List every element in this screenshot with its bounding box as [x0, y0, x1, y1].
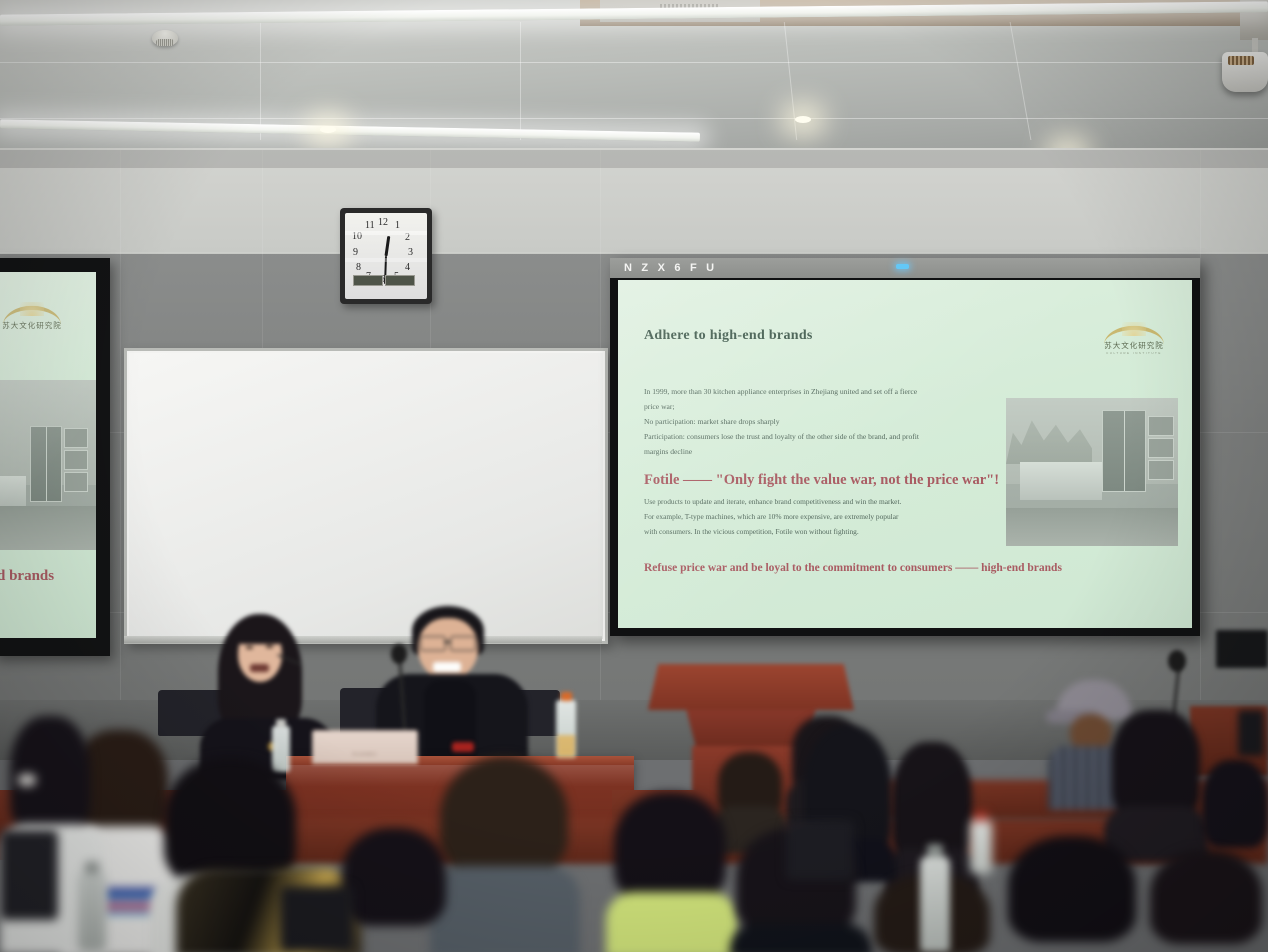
wall-seam [0, 252, 1268, 253]
hair [1202, 760, 1268, 848]
wall-seam [120, 150, 121, 710]
smartphone [1238, 710, 1264, 756]
wall-clock: 12 1 2 3 4 5 6 7 8 9 10 11 [340, 208, 432, 304]
clock-numeral: 3 [408, 247, 413, 258]
mouth [250, 664, 269, 672]
mouth [433, 662, 461, 672]
hair [614, 792, 726, 902]
bottle-liquid [557, 735, 575, 757]
hair-tie [18, 774, 36, 786]
hair-curly [440, 756, 568, 876]
bottle-cap [85, 862, 99, 873]
screen-glare [0, 272, 96, 638]
clock-numeral: 1 [395, 220, 400, 231]
bottle-cap [975, 812, 987, 821]
eye [266, 645, 273, 648]
red-marker [452, 742, 474, 752]
ceiling-seam [520, 22, 521, 140]
smoke-detector-icon [152, 30, 178, 46]
audience-member [606, 792, 738, 952]
hair-fringe [234, 622, 286, 644]
hair [1150, 850, 1262, 944]
screen-glare [618, 280, 1192, 628]
whiteboard-surface [129, 353, 603, 639]
clock-numeral: 9 [353, 247, 358, 258]
audience-member [1150, 850, 1268, 952]
gooseneck-microphone-head [1168, 650, 1186, 672]
downlight [320, 126, 336, 133]
ceiling-projector [1222, 52, 1268, 92]
laptop-lid [312, 730, 418, 764]
eye [246, 646, 253, 649]
side-monitor [1216, 630, 1268, 668]
clock-face: 12 1 2 3 4 5 6 7 8 9 10 11 [345, 213, 427, 299]
clock-glare [345, 231, 427, 235]
clock-glare [345, 258, 427, 262]
chair-back [0, 830, 58, 920]
audience-member [1000, 836, 1150, 952]
slide-surface: Adhere to high-end brands 苏大文化研究院 CULTUR… [618, 280, 1192, 628]
table-microphone-head [391, 644, 407, 664]
glasses-bridge [444, 641, 450, 643]
bottle-cap [276, 719, 286, 727]
water-bottle [970, 820, 992, 874]
ceiling-seam [0, 118, 1268, 119]
chair-back [280, 886, 354, 952]
glasses-icon [420, 636, 446, 651]
main-lcd-display: N Z X 6 F U Adhere to high-end brands 苏大… [610, 258, 1200, 636]
water-bottle [556, 700, 576, 758]
glasses-icon [450, 636, 476, 651]
podium-top [648, 664, 854, 710]
chair-back [786, 820, 854, 880]
bottle-cap [561, 692, 572, 701]
whiteboard [124, 348, 608, 644]
audience-member [336, 828, 456, 952]
hair [1112, 710, 1200, 820]
downlight [795, 116, 811, 123]
power-led-indicator [896, 264, 909, 269]
laptop-brand-label: HUAWEI [312, 752, 418, 758]
lecture-hall-photo: 12 1 2 3 4 5 6 7 8 9 10 11 苏大文化研究院 [0, 0, 1268, 952]
osd-label: N Z X 6 F U [610, 262, 717, 274]
water-bottle [920, 856, 950, 952]
left-slide-surface: 苏大文化研究院 end brands [0, 272, 96, 638]
clock-numeral: 11 [365, 220, 375, 231]
wall-shadow [0, 150, 1268, 168]
wall-seam [1200, 150, 1201, 710]
hair [164, 758, 296, 886]
clock-numeral: 8 [356, 262, 361, 273]
ceiling-seam [0, 62, 1268, 63]
ceiling-seam [260, 22, 261, 140]
laptop: HUAWEI [312, 730, 418, 766]
torso [730, 924, 872, 952]
clock-date-window [353, 275, 383, 286]
bottle-cap [927, 844, 943, 857]
torso-green-shirt [606, 892, 738, 952]
left-projection-screen: 苏大文化研究院 end brands [0, 258, 110, 656]
clock-numeral: 4 [405, 262, 410, 273]
clock-day-window [385, 275, 415, 286]
clock-hour-hand [385, 236, 391, 256]
hair [342, 828, 446, 926]
water-bottle [78, 872, 106, 952]
hair [1008, 836, 1136, 942]
clock-numeral: 12 [378, 217, 388, 228]
